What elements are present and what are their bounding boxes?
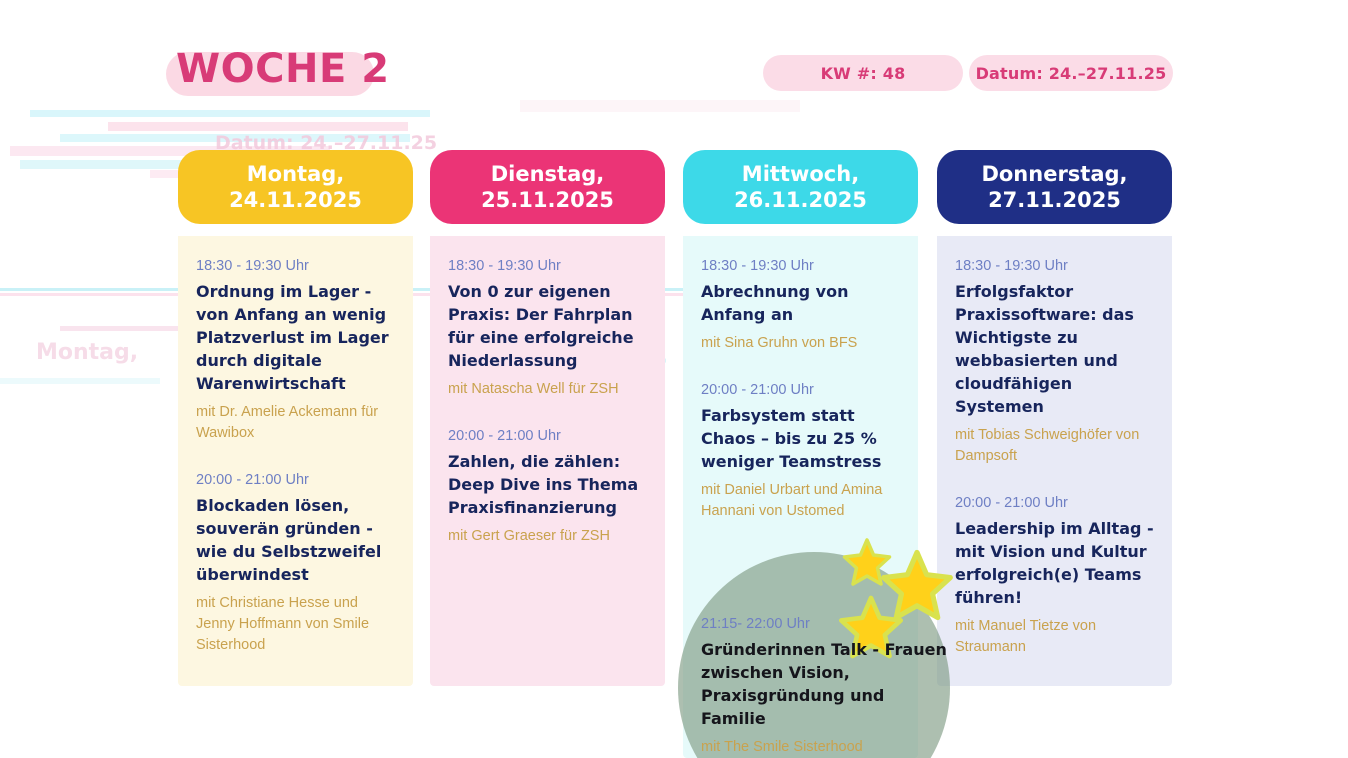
event-title: Erfolgsfaktor Praxissoftware: das Wichti… xyxy=(955,280,1154,418)
day-name-montag: Montag, xyxy=(247,161,345,187)
day-name-dienstag: Dienstag, xyxy=(491,161,605,187)
slide-canvas: Datum: 24.–27.11.25 Montag, Dienstag, Mi… xyxy=(0,0,1348,758)
event-time: 18:30 - 19:30 Uhr xyxy=(448,258,647,274)
event-speaker: mit The Smile Sisterhood xyxy=(701,737,954,758)
event-speaker: mit Daniel Urbart und Amina Hannani von … xyxy=(701,480,900,522)
event-time: 20:00 - 21:00 Uhr xyxy=(196,472,395,488)
event-title: Leadership im Alltag - mit Vision und Ku… xyxy=(955,517,1154,609)
event-title: Ordnung im Lager - von Anfang an wenig P… xyxy=(196,280,395,395)
day-name-donnerstag: Donnerstag, xyxy=(981,161,1127,187)
day-header-donnerstag: Donnerstag, 27.11.2025 xyxy=(937,150,1172,224)
day-date-montag: 24.11.2025 xyxy=(229,187,362,213)
star-icon-large-right xyxy=(880,548,954,622)
day-date-donnerstag: 27.11.2025 xyxy=(988,187,1121,213)
event-title: Zahlen, die zählen: Deep Dive ins Thema … xyxy=(448,450,647,519)
event-card[interactable]: 18:30 - 19:30 Uhr Von 0 zur eigenen Prax… xyxy=(448,258,647,400)
event-card[interactable]: 20:00 - 21:00 Uhr Blockaden lösen, souve… xyxy=(196,472,395,656)
date-badge: Datum: 24.–27.11.25 xyxy=(969,55,1173,91)
event-time: 20:00 - 21:00 Uhr xyxy=(701,382,900,398)
event-title: Von 0 zur eigenen Praxis: Der Fahrplan f… xyxy=(448,280,647,372)
event-time: 18:30 - 19:30 Uhr xyxy=(701,258,900,274)
day-body-donnerstag: 18:30 - 19:30 Uhr Erfolgsfaktor Praxisso… xyxy=(937,236,1172,686)
event-speaker: mit Tobias Schweighöfer von Dampsoft xyxy=(955,425,1154,467)
day-body-montag: 18:30 - 19:30 Uhr Ordnung im Lager - von… xyxy=(178,236,413,686)
event-speaker: mit Christiane Hesse und Jenny Hoffmann … xyxy=(196,593,395,656)
event-title: Farbsystem statt Chaos – bis zu 25 % wen… xyxy=(701,404,900,473)
event-speaker: mit Dr. Amelie Ackemann für Wawibox xyxy=(196,402,395,444)
event-card[interactable]: 18:30 - 19:30 Uhr Erfolgsfaktor Praxisso… xyxy=(955,258,1154,467)
event-time: 20:00 - 21:00 Uhr xyxy=(955,495,1154,511)
render-artifact-stripe-top xyxy=(520,100,800,112)
event-time: 20:00 - 21:00 Uhr xyxy=(448,428,647,444)
event-card[interactable]: 18:30 - 19:30 Uhr Ordnung im Lager - von… xyxy=(196,258,395,444)
kw-badge-label: KW #: 48 xyxy=(821,64,906,83)
event-speaker: mit Sina Gruhn von BFS xyxy=(701,333,900,354)
event-card[interactable]: 18:30 - 19:30 Uhr Abrechnung von Anfang … xyxy=(701,258,900,354)
event-speaker: mit Manuel Tietze von Straumann xyxy=(955,616,1154,658)
kw-badge: KW #: 48 xyxy=(763,55,963,91)
event-time: 21:15- 22:00 Uhr xyxy=(701,616,954,632)
event-speaker: mit Natascha Well für ZSH xyxy=(448,379,647,400)
day-header-dienstag: Dienstag, 25.11.2025 xyxy=(430,150,665,224)
page-title: WOCHE 2 xyxy=(176,46,390,92)
event-card[interactable]: 21:15- 22:00 Uhr Gründerinnen Talk - Fra… xyxy=(701,616,954,758)
event-time: 18:30 - 19:30 Uhr xyxy=(955,258,1154,274)
day-date-mittwoch: 26.11.2025 xyxy=(734,187,867,213)
event-card[interactable]: 20:00 - 21:00 Uhr Farbsystem statt Chaos… xyxy=(701,382,900,522)
event-title: Blockaden lösen, souverän gründen - wie … xyxy=(196,494,395,586)
event-title: Gründerinnen Talk - Frauen zwischen Visi… xyxy=(701,638,954,730)
event-card[interactable]: 20:00 - 21:00 Uhr Zahlen, die zählen: De… xyxy=(448,428,647,547)
date-badge-label: Datum: 24.–27.11.25 xyxy=(976,64,1167,83)
day-date-dienstag: 25.11.2025 xyxy=(481,187,614,213)
ghost-text-monday: Montag, xyxy=(36,340,138,365)
event-card[interactable]: 20:00 - 21:00 Uhr Leadership im Alltag -… xyxy=(955,495,1154,658)
event-speaker: mit Gert Graeser für ZSH xyxy=(448,526,647,547)
day-name-mittwoch: Mittwoch, xyxy=(742,161,859,187)
day-body-dienstag: 18:30 - 19:30 Uhr Von 0 zur eigenen Prax… xyxy=(430,236,665,686)
day-header-mittwoch: Mittwoch, 26.11.2025 xyxy=(683,150,918,224)
event-title: Abrechnung von Anfang an xyxy=(701,280,900,326)
event-time: 18:30 - 19:30 Uhr xyxy=(196,258,395,274)
day-header-montag: Montag, 24.11.2025 xyxy=(178,150,413,224)
